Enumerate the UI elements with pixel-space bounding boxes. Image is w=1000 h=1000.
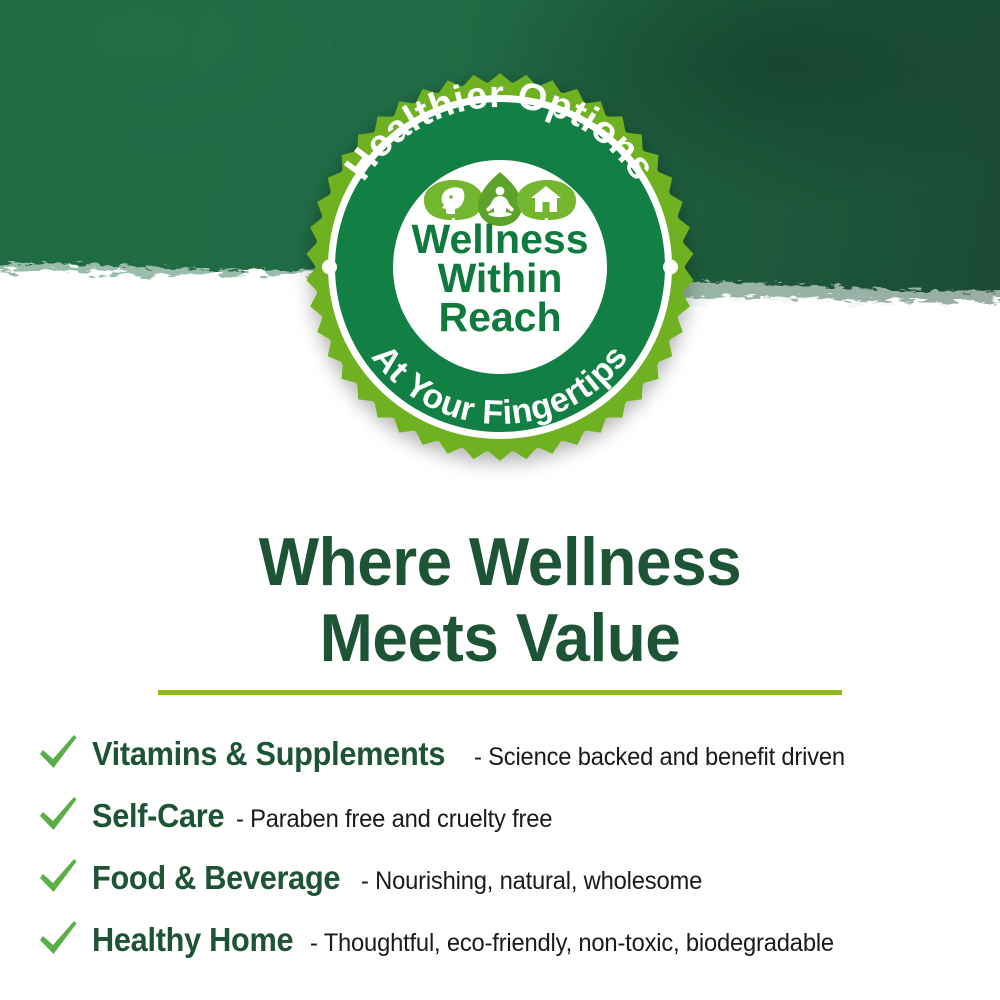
list-item: Vitamins & Supplements- Science backed a… — [0, 722, 1000, 784]
list-item-desc: - Nourishing, natural, wholesome — [361, 869, 702, 894]
check-icon — [36, 917, 80, 961]
list-item: Healthy Home- Thoughtful, eco-friendly, … — [0, 908, 1000, 970]
list-item-term: Self-Care — [92, 799, 224, 832]
brand-seal: Healthier Options At Your Fingertips — [303, 70, 697, 464]
list-item-text: Self-Care- Paraben free and cruelty free — [92, 799, 569, 832]
promo-banner-page: Healthier Options At Your Fingertips — [0, 0, 1000, 1000]
list-item-text: Healthy Home- Thoughtful, eco-friendly, … — [92, 923, 862, 956]
list-item-term: Healthy Home — [92, 923, 293, 956]
list-item-text: Food & Beverage- Nourishing, natural, wh… — [92, 861, 720, 894]
house-leaf-icon — [517, 180, 576, 220]
list-item-desc: - Paraben free and cruelty free — [236, 807, 552, 832]
list-item: Self-Care- Paraben free and cruelty free — [0, 784, 1000, 846]
page-title-line-2: Meets Value — [30, 600, 970, 676]
list-item: Food & Beverage- Nourishing, natural, wh… — [0, 846, 1000, 908]
head-profile-leaf-icon — [424, 180, 483, 220]
list-item-term: Food & Beverage — [92, 861, 340, 894]
benefits-list: Vitamins & Supplements- Science backed a… — [0, 722, 1000, 970]
page-title-line-1: Where Wellness — [259, 524, 741, 600]
page-title: Where Wellness Meets Value — [30, 524, 970, 676]
seal-dot-right — [663, 260, 678, 275]
list-item-desc: - Thoughtful, eco-friendly, non-toxic, b… — [310, 931, 834, 956]
check-icon — [36, 855, 80, 899]
list-item-desc: - Science backed and benefit driven — [474, 745, 845, 770]
seal-dot-left — [322, 260, 337, 275]
list-item-term: Vitamins & Supplements — [92, 737, 445, 770]
title-divider — [158, 690, 842, 695]
svg-text:Reach: Reach — [438, 294, 561, 340]
check-icon — [36, 731, 80, 775]
list-item-text: Vitamins & Supplements- Science backed a… — [92, 737, 864, 770]
check-icon — [36, 793, 80, 837]
